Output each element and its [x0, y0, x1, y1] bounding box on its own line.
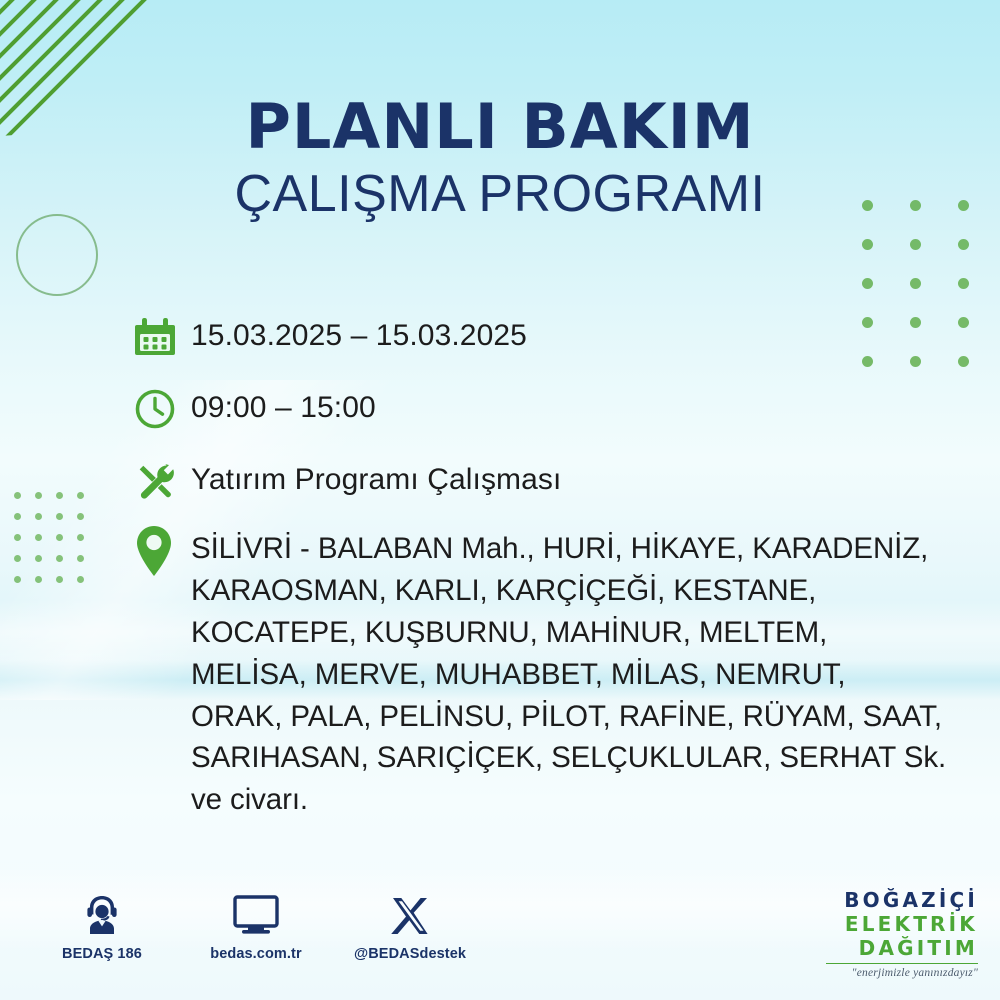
page-subtitle: ÇALIŞMA PROGRAMI [0, 168, 1000, 220]
outage-details: 15.03.2025 – 15.03.2025 09:00 – 15:00 [133, 312, 973, 821]
location-line: ve civarı. [191, 783, 308, 816]
location-line: SARIHASAN, SARIÇİÇEK, SELÇUKLULAR, SERHA… [191, 741, 946, 774]
detail-location-text: SİLİVRİ - BALABAN Mah., HURİ, HİKAYE, KA… [191, 528, 946, 821]
x-twitter-icon [354, 886, 466, 938]
detail-row-time: 09:00 – 15:00 [133, 384, 973, 434]
poster-footer: BEDAŞ 186 bedas.com.tr [0, 886, 1000, 1000]
location-line: KARAOSMAN, KARLI, KARÇİÇEĞİ, KESTANE, [191, 574, 816, 607]
contact-x-label: @BEDASdestek [354, 946, 466, 962]
brand-divider [826, 963, 978, 964]
detail-row-location: SİLİVRİ - BALABAN Mah., HURİ, HİKAYE, KA… [133, 528, 973, 821]
monitor-icon [200, 886, 312, 938]
detail-time-text: 09:00 – 15:00 [191, 384, 376, 428]
brand-line-bogazici: BOĞAZİÇİ [826, 890, 978, 910]
location-line: KOCATEPE, KUŞBURNU, MAHİNUR, MELTEM, [191, 616, 827, 649]
circle-outline-decoration [16, 214, 98, 296]
poster-header: PLANLI BAKIM ÇALIŞMA PROGRAMI [0, 96, 1000, 220]
contact-x-social[interactable]: @BEDASdestek [354, 886, 466, 962]
contact-website[interactable]: bedas.com.tr [200, 886, 312, 962]
detail-date-text: 15.03.2025 – 15.03.2025 [191, 312, 527, 356]
bedas-logo: BOĞAZİÇİ ELEKTRİK DAĞITIM "enerjimizle y… [826, 890, 978, 980]
brand-line-elektrik: ELEKTRİK [826, 914, 978, 934]
location-line: MELİSA, MERVE, MUHABBET, MİLAS, NEMRUT, [191, 658, 846, 691]
detail-row-worktype: Yatırım Programı Çalışması [133, 456, 973, 506]
brand-line-dagitim: DAĞITIM [826, 938, 978, 958]
calendar-icon [133, 312, 191, 362]
location-line: ORAK, PALA, PELİNSU, PİLOT, RAFİNE, RÜYA… [191, 700, 942, 733]
map-pin-icon [133, 528, 191, 574]
dot-grid-left-decoration [14, 492, 98, 597]
contact-phone-label: BEDAŞ 186 [46, 946, 158, 962]
contact-phone[interactable]: BEDAŞ 186 [46, 886, 158, 962]
brand-slogan: "enerjimizle yanınızdayız" [826, 968, 978, 980]
page-title: PLANLI BAKIM [0, 96, 1000, 158]
headset-agent-icon [46, 886, 158, 938]
clock-icon [133, 384, 191, 434]
detail-row-date: 15.03.2025 – 15.03.2025 [133, 312, 973, 362]
contact-channels: BEDAŞ 186 bedas.com.tr [46, 886, 466, 962]
tools-icon [133, 456, 191, 506]
detail-worktype-text: Yatırım Programı Çalışması [191, 456, 561, 500]
location-line: SİLİVRİ - BALABAN Mah., HURİ, HİKAYE, KA… [191, 532, 928, 565]
poster-canvas: PLANLI BAKIM ÇALIŞMA PROGRAMI [0, 0, 1000, 1000]
contact-website-label: bedas.com.tr [200, 946, 312, 962]
